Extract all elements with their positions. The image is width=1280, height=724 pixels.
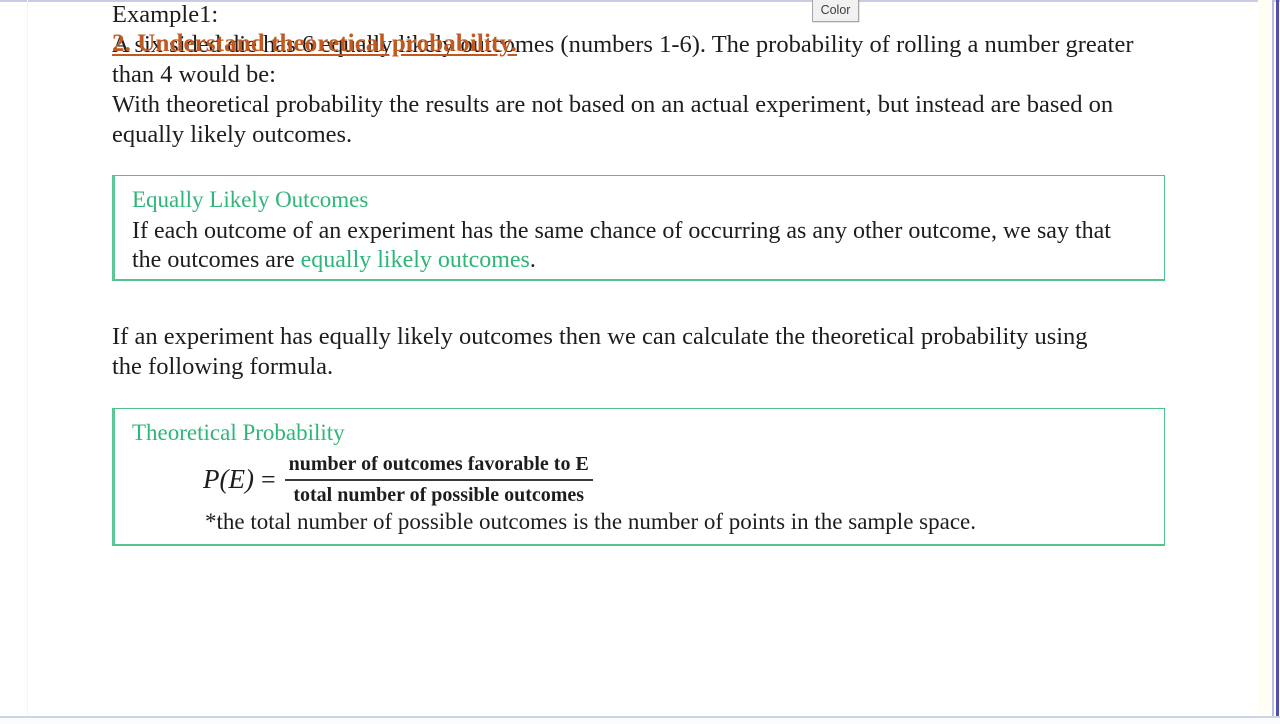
fraction-denominator: total number of possible outcomes (289, 484, 588, 506)
below-page-area (0, 718, 1280, 724)
left-margin-guide (27, 0, 28, 724)
callout-theoretical-probability: Theoretical Probability P(E) = number of… (112, 408, 1165, 546)
formula-equals-sign: = (261, 465, 276, 495)
callout-heading: Equally Likely Outcomes (132, 187, 368, 213)
fraction-bar (285, 479, 593, 481)
callout-body-text-before: If each outcome of an experiment has the… (132, 218, 1111, 273)
callout-body-highlight: equally likely outcomes (301, 247, 530, 273)
fraction-numerator: number of outcomes favorable to E (285, 453, 593, 475)
right-margin-band (1258, 0, 1272, 724)
callout-body-text-after: . (530, 247, 536, 273)
formula-left-hand-side: P(E) (203, 464, 254, 495)
slide-content: 2. Understand theoretical probability. W… (112, 0, 1172, 90)
right-edge-outer-rule (1276, 0, 1279, 724)
probability-formula: P(E) = number of outcomes favorable to E… (203, 451, 593, 508)
formula-fraction: number of outcomes favorable to E total … (285, 451, 593, 508)
intro-paragraph: With theoretical probability the results… (112, 90, 1124, 150)
page-title: 2. Understand theoretical probability. (112, 30, 517, 58)
callout-equally-likely-outcomes: Equally Likely Outcomes If each outcome … (112, 175, 1165, 281)
slide-canvas: Color 2. Understand theoretical probabil… (0, 0, 1280, 724)
example-label: Example1: (112, 0, 1147, 30)
right-edge-inner-rule (1272, 0, 1274, 724)
callout-heading: Theoretical Probability (132, 420, 345, 446)
formula-footnote: *the total number of possible outcomes i… (205, 509, 976, 535)
formula-intro-paragraph: If an experiment has equally likely outc… (112, 322, 1117, 382)
callout-body: If each outcome of an experiment has the… (132, 217, 1142, 275)
